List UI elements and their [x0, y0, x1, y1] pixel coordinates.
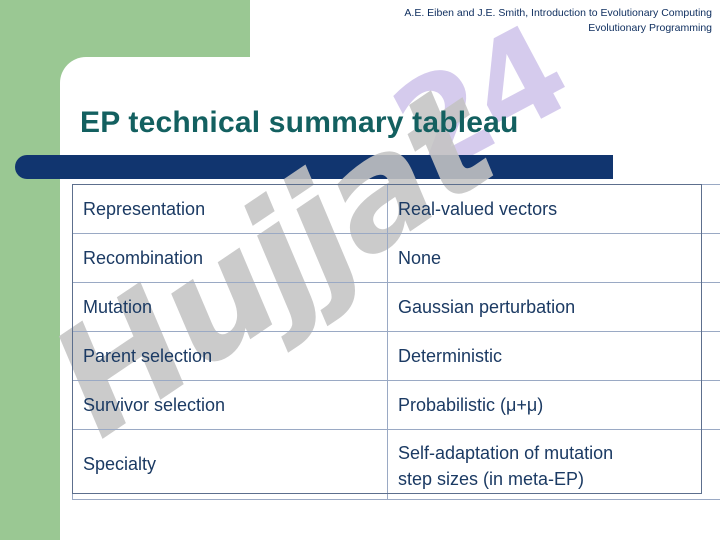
table-cell-value: Probabilistic (μ+μ) — [388, 381, 720, 430]
table-cell-key: Specialty — [73, 430, 388, 500]
table-cell-key: Parent selection — [73, 332, 388, 381]
page-title: EP technical summary tableau — [80, 106, 519, 140]
table-cell-key: Representation — [73, 185, 388, 234]
table-cell-value: Deterministic — [388, 332, 720, 381]
table-cell-value-line-1: Self-adaptation of mutation — [398, 440, 720, 466]
green-sidebar-decoration — [0, 0, 60, 540]
table-cell-key: Recombination — [73, 234, 388, 283]
header-line-2: Evolutionary Programming — [404, 21, 712, 36]
table-cell-value: Gaussian perturbation — [388, 283, 720, 332]
table-cell-value: Self-adaptation of mutation step sizes (… — [388, 430, 720, 500]
table-cell-value: None — [388, 234, 720, 283]
table-row: Parent selection Deterministic — [73, 332, 720, 381]
table-body: Representation Real-valued vectors Recom… — [73, 185, 720, 500]
table-row: Recombination None — [73, 234, 720, 283]
table-cell-value: Real-valued vectors — [388, 185, 720, 234]
title-accent-bar — [15, 155, 613, 179]
table-cell-value-line-2: step sizes (in meta-EP) — [398, 466, 720, 492]
table-cell-key: Survivor selection — [73, 381, 388, 430]
table-row: Specialty Self-adaptation of mutation st… — [73, 430, 720, 500]
slide-header: A.E. Eiben and J.E. Smith, Introduction … — [404, 6, 712, 36]
table-cell-key: Mutation — [73, 283, 388, 332]
slide: 24 A.E. Eiben and J.E. Smith, Introducti… — [0, 0, 720, 540]
table-row: Mutation Gaussian perturbation — [73, 283, 720, 332]
ep-summary-table: Representation Real-valued vectors Recom… — [72, 184, 720, 500]
table-row: Representation Real-valued vectors — [73, 185, 720, 234]
table-row: Survivor selection Probabilistic (μ+μ) — [73, 381, 720, 430]
header-line-1: A.E. Eiben and J.E. Smith, Introduction … — [404, 6, 712, 21]
